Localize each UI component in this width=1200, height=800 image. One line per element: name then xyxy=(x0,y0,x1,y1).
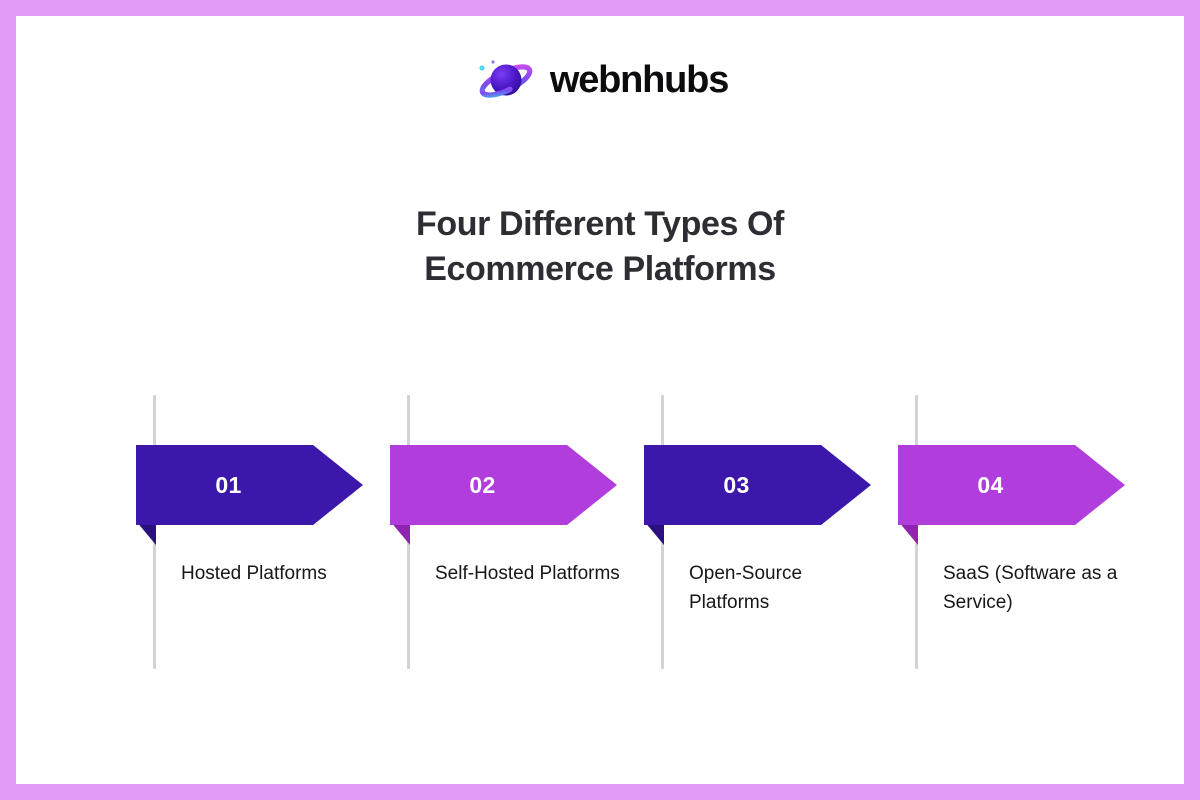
step-number: 01 xyxy=(215,472,241,499)
planet-icon xyxy=(472,54,536,106)
step-number: 02 xyxy=(469,472,495,499)
step-banner: 03 xyxy=(641,445,871,545)
page-title-line-2: Ecommerce Platforms xyxy=(16,247,1184,292)
page-title: Four Different Types Of Ecommerce Platfo… xyxy=(16,202,1184,292)
step-item-4: 04 SaaS (Software as a Service) xyxy=(895,395,1150,685)
step-banner: 01 xyxy=(133,445,363,545)
brand-logo: webnhubs xyxy=(16,54,1184,106)
step-label: SaaS (Software as a Service) xyxy=(943,560,1133,618)
step-label: Hosted Platforms xyxy=(181,560,371,589)
step-label: Self-Hosted Platforms xyxy=(435,560,625,589)
banner-arrow: 02 xyxy=(390,445,617,525)
banner-arrow: 04 xyxy=(898,445,1125,525)
step-number: 04 xyxy=(977,472,1003,499)
step-label: Open-Source Platforms xyxy=(689,560,879,618)
steps-container: 01 Hosted Platforms 02 Self-Hosted Platf… xyxy=(16,395,1184,695)
step-item-3: 03 Open-Source Platforms xyxy=(641,395,896,685)
step-item-1: 01 Hosted Platforms xyxy=(133,395,388,685)
step-banner: 02 xyxy=(387,445,617,545)
banner-arrow: 01 xyxy=(136,445,363,525)
banner-arrow: 03 xyxy=(644,445,871,525)
step-item-2: 02 Self-Hosted Platforms xyxy=(387,395,642,685)
step-banner: 04 xyxy=(895,445,1125,545)
brand-wordmark: webnhubs xyxy=(550,61,728,99)
step-number: 03 xyxy=(723,472,749,499)
infographic-page: webnhubs Four Different Types Of Ecommer… xyxy=(16,16,1184,784)
page-title-line-1: Four Different Types Of xyxy=(16,202,1184,247)
